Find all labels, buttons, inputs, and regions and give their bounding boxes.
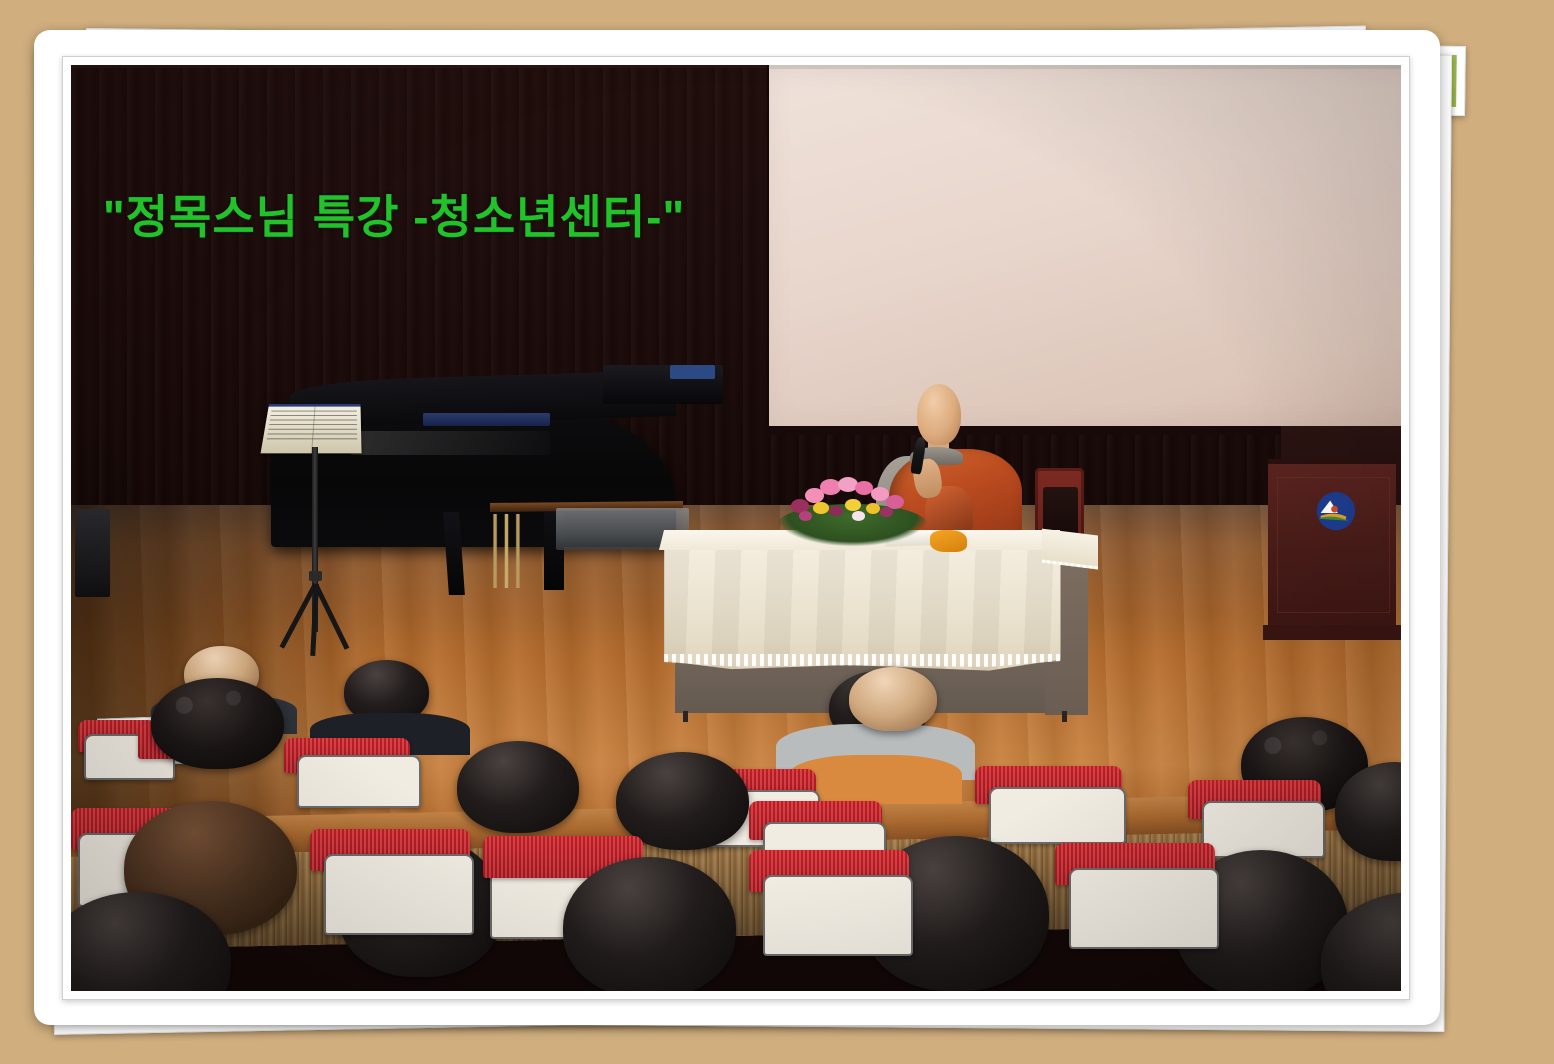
photo-caption: "정목스님 특강 -청소년센터-" bbox=[103, 181, 685, 247]
screen-top-trim bbox=[769, 65, 1401, 69]
table-cloth-flap bbox=[1042, 528, 1098, 569]
seat-shell bbox=[1069, 868, 1219, 949]
sheet-music-staves bbox=[267, 411, 358, 442]
collage-canvas: 님 석 bbox=[0, 0, 1554, 1064]
audience-head bbox=[563, 857, 736, 991]
audience-head bbox=[457, 741, 579, 832]
seat-shell bbox=[1202, 801, 1326, 858]
photo-mount: 님 석 bbox=[34, 30, 1440, 1025]
piano-pedal-lyre bbox=[489, 514, 528, 588]
piano-gloss-highlight bbox=[350, 431, 550, 455]
speaker-head bbox=[917, 384, 961, 445]
audience-head bbox=[151, 678, 284, 769]
main-photograph: 님 석 bbox=[71, 65, 1401, 991]
photo-frame: 님 석 bbox=[62, 56, 1410, 1000]
audience-area: 님 석 bbox=[71, 639, 1401, 991]
podium-emblem-icon bbox=[1312, 487, 1360, 537]
floor-speaker bbox=[75, 509, 110, 597]
yellow-cloth bbox=[930, 530, 967, 552]
projection-screen bbox=[769, 65, 1401, 426]
music-stand-knob bbox=[309, 571, 322, 581]
seat-shell bbox=[763, 875, 913, 956]
flower-arrangement bbox=[783, 468, 923, 547]
seat-shell bbox=[989, 787, 1126, 844]
podium-base bbox=[1263, 625, 1401, 640]
audience-head bbox=[849, 667, 937, 730]
piano-top-blue-item bbox=[670, 365, 715, 379]
piano-blue-cloth bbox=[423, 413, 549, 426]
seat-shell bbox=[297, 755, 421, 808]
seat-shell bbox=[324, 854, 474, 935]
